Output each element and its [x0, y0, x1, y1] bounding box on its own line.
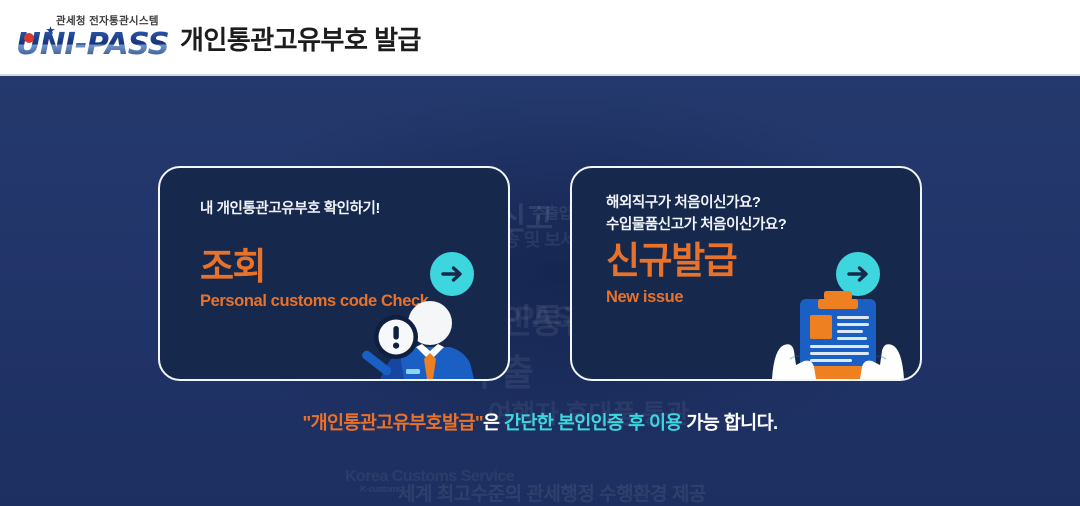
footnote-quoted: "개인통관고유부호발급" [302, 412, 483, 433]
card-check-title-kr: 조회 [200, 246, 265, 288]
card-subtitle-line: 내 개인통관고유부호 확인하기! [200, 198, 486, 220]
footnote-tail: 가능 합니다. [686, 412, 777, 433]
card-check[interactable]: 내 개인통관고유부호 확인하기! 조회 Personal customs cod… [158, 166, 510, 381]
footer-note: "개인통관고유부호발급"은 간단한 본인인증 후 이용 가능 합니다. [0, 409, 1080, 435]
page-root: 관세청 전자통관시스템 UNI-PASS 개인통관고유부호 발급 수입물품신고 … [0, 0, 1080, 506]
card-new-issue-title-en: New issue [606, 288, 683, 307]
card-new-issue-subtitle: 해외직구가 처음이신가요? 수입물품신고가 처음이신가요? [606, 192, 898, 236]
magnifier-person-illustration [352, 287, 502, 379]
unipass-logo[interactable]: 관세청 전자통관시스템 UNI-PASS [8, 7, 166, 69]
logo-dot-icon [24, 33, 34, 43]
footnote-particle: 은 [483, 412, 499, 433]
clipboard-hands-illustration [770, 287, 906, 379]
card-check-subtitle: 내 개인통관고유부호 확인하기! [200, 198, 486, 220]
card-subtitle-line: 해외직구가 처음이신가요? [606, 192, 898, 214]
page-title: 개인통관고유부호 발급 [180, 20, 421, 57]
card-new-issue[interactable]: 해외직구가 처음이신가요? 수입물품신고가 처음이신가요? 신규발급 New i… [570, 166, 922, 381]
card-new-issue-title-kr: 신규발급 [606, 240, 736, 282]
logo-wordmark: UNI-PASS [16, 27, 169, 62]
footnote-highlight: 간단한 본인인증 후 이용 [504, 412, 682, 433]
logo-tagline: 관세청 전자통관시스템 [56, 13, 159, 28]
card-subtitle-line: 수입물품신고가 처음이신가요? [606, 214, 898, 236]
card-container: 내 개인통관고유부호 확인하기! 조회 Personal customs cod… [0, 76, 1080, 506]
page-header: 관세청 전자통관시스템 UNI-PASS 개인통관고유부호 발급 [0, 0, 1080, 76]
main-stage: 수입물품신고 수출입신고 해외직구물품 물품 수출입신고 물품운송 및 보세화물… [0, 76, 1080, 506]
